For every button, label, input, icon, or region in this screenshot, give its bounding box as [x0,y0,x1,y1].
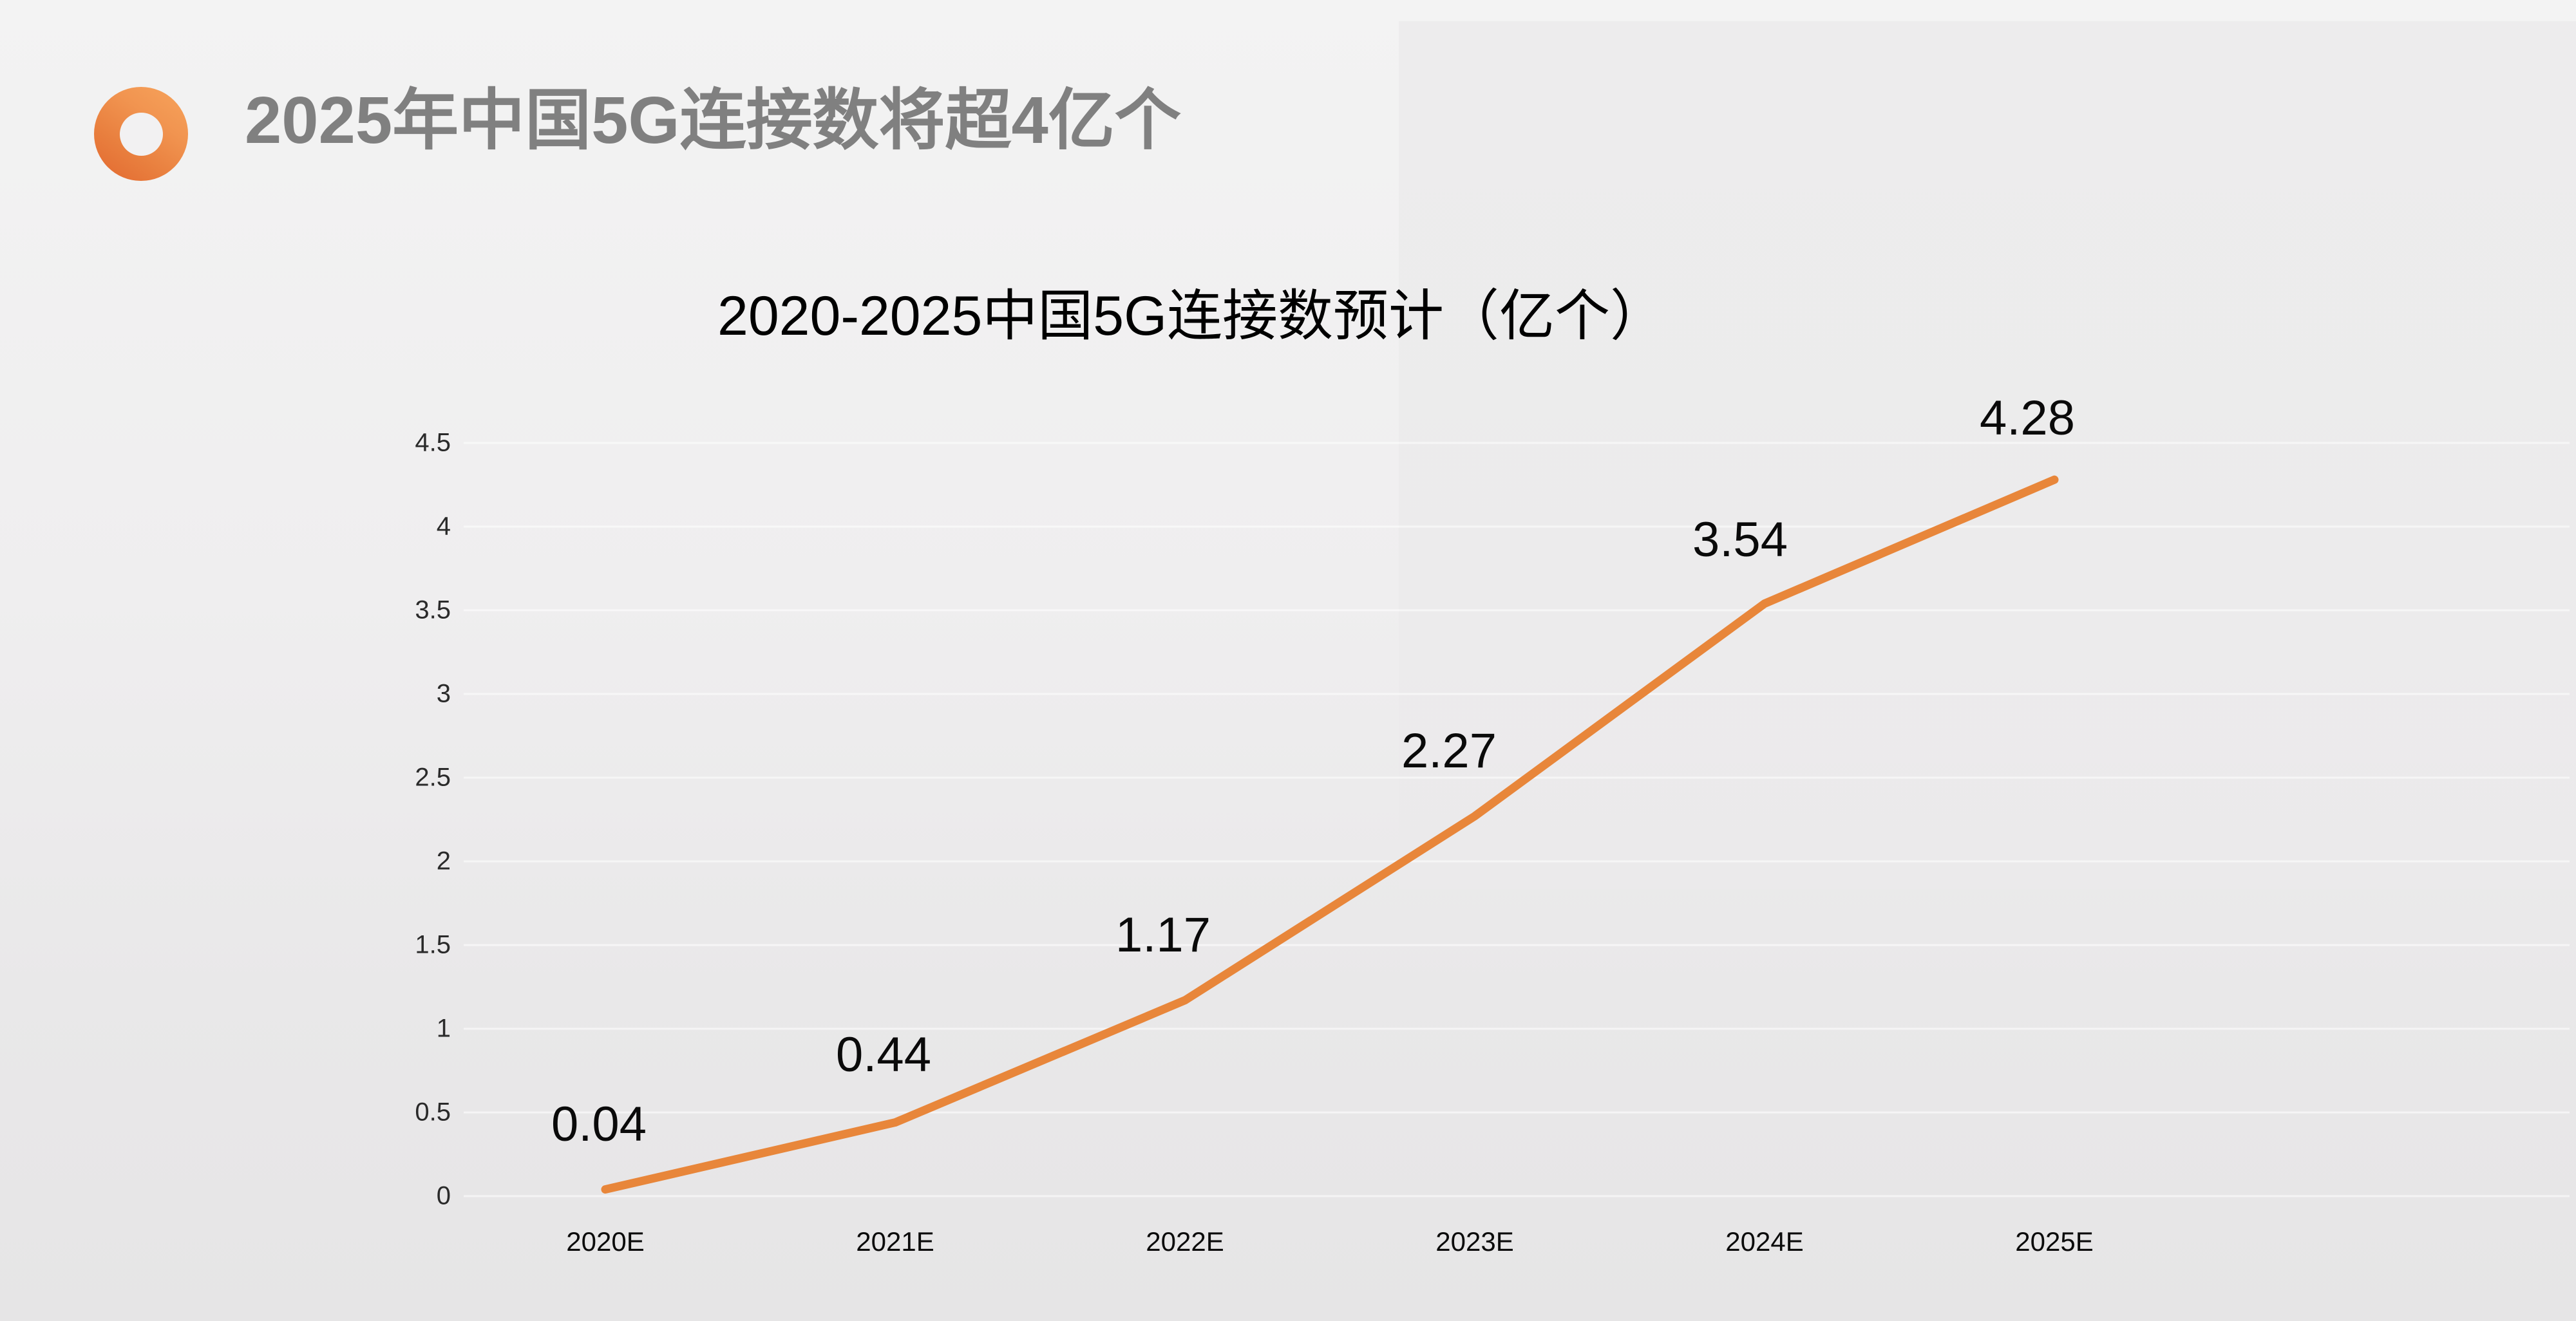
y-axis-tick-label: 1 [341,1015,451,1044]
data-point-label: 1.17 [1115,907,1211,963]
chart-title: 2020-2025中国5G连接数预计（亿个） [0,270,2479,351]
y-axis-tick-label: 4.5 [341,429,451,458]
ring-donut-icon [94,87,188,181]
y-axis-tick-label: 0.5 [341,1098,451,1127]
data-point-label: 0.04 [551,1096,647,1152]
y-axis-tick-label: 3.5 [341,596,451,625]
y-axis-tick-label: 1.5 [341,931,451,960]
data-point-label: 3.54 [1692,512,1788,568]
x-axis-tick-label: 2021E [856,1226,934,1257]
ring-donut-icon-hole [120,113,163,156]
data-point-label: 2.27 [1401,723,1497,779]
data-point-label: 4.28 [1980,390,2075,446]
chart-series-line [605,480,2054,1189]
data-point-label: 0.44 [836,1027,931,1083]
y-axis-tick-label: 2.5 [341,764,451,792]
x-axis-tick-label: 2023E [1435,1226,1513,1257]
y-axis-tick-label: 4 [341,512,451,541]
x-axis-tick-label: 2025E [2015,1226,2093,1257]
y-axis-tick-label: 0 [341,1182,451,1211]
chart-gridlines [464,443,2570,1196]
page-header: 2025年中国5G连接数将超4亿个 [0,0,2576,206]
x-axis-tick-label: 2020E [566,1226,644,1257]
y-axis-tick-label: 3 [341,680,451,709]
x-axis-tick-label: 2024E [1725,1226,1803,1257]
y-axis-tick-label: 2 [341,847,451,876]
x-axis-tick-label: 2022E [1146,1226,1224,1257]
page-title: 2025年中国5G连接数将超4亿个 [245,82,1181,158]
